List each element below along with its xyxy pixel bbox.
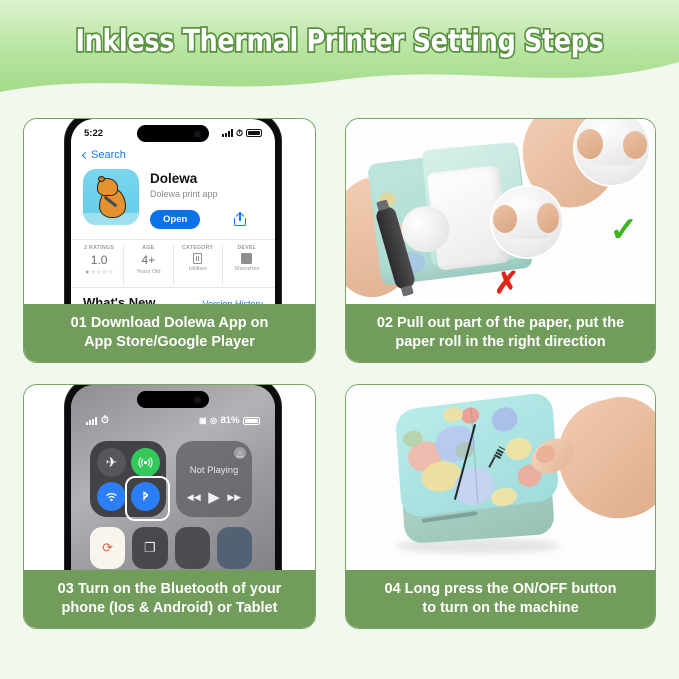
phone-screen: ⏱ ▣ ◎ 81% ✈ xyxy=(71,385,275,572)
dynamic-island xyxy=(137,391,209,408)
stat-value: 4+ xyxy=(125,253,171,267)
stat-ratings: 2 RATINGS 1.0 ★☆☆☆☆ xyxy=(75,245,124,285)
bluetooth-toggle[interactable] xyxy=(131,482,160,511)
cellular-signal-icon xyxy=(222,129,233,137)
step-1-image: 5:22 ⏱ Search xyxy=(24,119,315,306)
bluetooth-icon xyxy=(139,489,152,504)
step-card-1: 5:22 ⏱ Search xyxy=(23,118,316,363)
rewind-button[interactable]: ◀◀ xyxy=(187,492,201,503)
chevron-left-icon xyxy=(82,151,89,158)
pattern-blob xyxy=(490,486,517,507)
now-playing-widget[interactable]: △ Not Playing ◀◀ ▶ ▶▶ xyxy=(176,441,252,517)
stat-category: CATEGORY Utilities xyxy=(174,245,223,285)
wifi-icon: ⏱ xyxy=(236,128,243,139)
pattern-blob xyxy=(443,406,464,422)
back-label: Search xyxy=(91,149,126,161)
printer-power-scene xyxy=(346,385,655,572)
caption-line-2: App Store/Google Player xyxy=(71,333,269,352)
rotation-lock-toggle[interactable] xyxy=(90,527,125,569)
cross-icon: ✗ xyxy=(494,269,519,299)
step-card-2: ✓ ✗ 02 Pull out part of the paper, put t… xyxy=(345,118,656,363)
airplane-mode-toggle[interactable]: ✈ xyxy=(97,448,126,477)
caption-line-1: 02 Pull out part of the paper, put the xyxy=(377,314,624,333)
step-4-caption: 04 Long press the ON/OFF button to turn … xyxy=(346,570,655,628)
app-subtitle: Dolewa print app xyxy=(150,189,246,199)
connectivity-toggle-group: ✈ xyxy=(90,441,166,517)
battery-icon xyxy=(243,417,260,425)
stat-developer: DEVEL Shenzhen xyxy=(223,245,271,285)
forward-button[interactable]: ▶▶ xyxy=(227,492,241,503)
app-name: Dolewa xyxy=(150,171,246,186)
battery-percent: 81% xyxy=(220,415,239,426)
caption-line-2: phone (Ios & Android) or Tablet xyxy=(58,599,282,618)
app-icon-dolewa xyxy=(83,169,139,225)
status-indicators: ▣ ◎ 81% xyxy=(199,415,260,426)
checkmark-icon: ✓ xyxy=(610,213,639,247)
stat-sub: Utilities xyxy=(175,266,221,272)
step-2-caption: 02 Pull out part of the paper, put the p… xyxy=(346,304,655,362)
stat-label: CATEGORY xyxy=(175,245,221,251)
cellular-icon xyxy=(138,455,153,470)
wifi-icon: ⏱ xyxy=(101,415,109,426)
pressing-hand xyxy=(546,387,655,531)
app-stats-row: 2 RATINGS 1.0 ★☆☆☆☆ AGE 4+ Years Old CAT… xyxy=(71,239,275,285)
location-icon: ◎ xyxy=(210,416,217,425)
thumb-shape xyxy=(493,205,517,233)
app-header-row: Dolewa Dolewa print app Open xyxy=(83,169,265,229)
status-bar: ⏱ ▣ ◎ 81% xyxy=(71,415,275,426)
capybara-ear-shape xyxy=(98,176,105,182)
now-playing-label: Not Playing xyxy=(176,465,252,476)
dynamic-island xyxy=(137,125,209,142)
step-1-caption: 01 Download Dolewa App on App Store/Goog… xyxy=(24,304,315,362)
step-3-image: ⏱ ▣ ◎ 81% ✈ xyxy=(24,385,315,572)
thumb-shape xyxy=(577,129,603,159)
stat-label: AGE xyxy=(125,245,171,251)
share-icon[interactable] xyxy=(234,213,246,226)
app-info: Dolewa Dolewa print app Open xyxy=(150,169,246,229)
play-button[interactable]: ▶ xyxy=(208,488,220,506)
step-2-image: ✓ ✗ xyxy=(346,119,655,306)
control-center-panel: ⏱ ▣ ◎ 81% ✈ xyxy=(71,385,275,572)
stat-label: 2 RATINGS xyxy=(76,245,122,251)
star-rating: ★☆☆☆☆ xyxy=(76,269,122,276)
caption-line-2: paper roll in the right direction xyxy=(377,333,624,352)
thumb-shape xyxy=(537,203,559,233)
status-time: 5:22 xyxy=(84,128,103,139)
stat-label: DEVEL xyxy=(224,245,270,251)
phone-mockup-appstore: 5:22 ⏱ Search xyxy=(65,119,281,306)
media-controls: ◀◀ ▶ ▶▶ xyxy=(176,488,252,506)
screen-mirroring-toggle[interactable] xyxy=(132,527,167,569)
control-center-second-row xyxy=(90,527,252,569)
stat-sub: Years Old xyxy=(125,269,171,275)
stat-value: 1.0 xyxy=(76,253,122,267)
stat-age: AGE 4+ Years Old xyxy=(124,245,173,285)
step-4-image xyxy=(346,385,655,572)
phone-screen: 5:22 ⏱ Search xyxy=(71,119,275,306)
developer-icon xyxy=(241,253,252,264)
back-to-search-button[interactable]: Search xyxy=(83,149,126,161)
page-title: Inkless Thermal Printer Setting Steps xyxy=(20,24,658,59)
printer-paper-scene: ✓ ✗ xyxy=(346,119,655,306)
status-indicators: ⏱ xyxy=(222,128,262,139)
alarm-icon: ▣ xyxy=(199,416,207,425)
step-3-caption: 03 Turn on the Bluetooth of your phone (… xyxy=(24,570,315,628)
phone-mockup-controlcenter: ⏱ ▣ ◎ 81% ✈ xyxy=(65,385,281,572)
front-camera-icon xyxy=(194,396,201,403)
front-camera-icon xyxy=(194,130,201,137)
brightness-slider[interactable] xyxy=(175,527,210,569)
stat-sub: Shenzhen xyxy=(224,266,270,272)
pattern-blob xyxy=(491,406,519,433)
caption-line-1: 03 Turn on the Bluetooth of your xyxy=(58,580,282,599)
caption-line-1: 01 Download Dolewa App on xyxy=(71,314,269,333)
pattern-blob xyxy=(505,436,532,461)
wifi-toggle[interactable] xyxy=(97,482,126,511)
volume-slider[interactable] xyxy=(217,527,252,569)
thumb-shape xyxy=(623,131,647,159)
caption-line-1: 04 Long press the ON/OFF button xyxy=(385,580,617,599)
step-card-4: 04 Long press the ON/OFF button to turn … xyxy=(345,384,656,629)
inset-wrong-direction xyxy=(492,187,562,257)
caption-line-2: to turn on the machine xyxy=(385,599,617,618)
header-banner: Inkless Thermal Printer Setting Steps xyxy=(0,0,679,104)
utilities-icon xyxy=(193,253,202,264)
airplane-icon: ✈ xyxy=(106,454,118,471)
open-app-button[interactable]: Open xyxy=(150,210,200,229)
battery-icon xyxy=(246,129,262,137)
wifi-icon xyxy=(104,489,119,504)
inset-correct-direction xyxy=(575,119,649,185)
cellular-data-toggle[interactable] xyxy=(131,448,160,477)
infographic-page: Inkless Thermal Printer Setting Steps 5:… xyxy=(0,0,679,679)
airplay-icon[interactable]: △ xyxy=(234,447,246,459)
step-card-3: ⏱ ▣ ◎ 81% ✈ xyxy=(23,384,316,629)
app-actions: Open xyxy=(150,210,246,229)
cellular-signal-icon xyxy=(86,417,97,425)
